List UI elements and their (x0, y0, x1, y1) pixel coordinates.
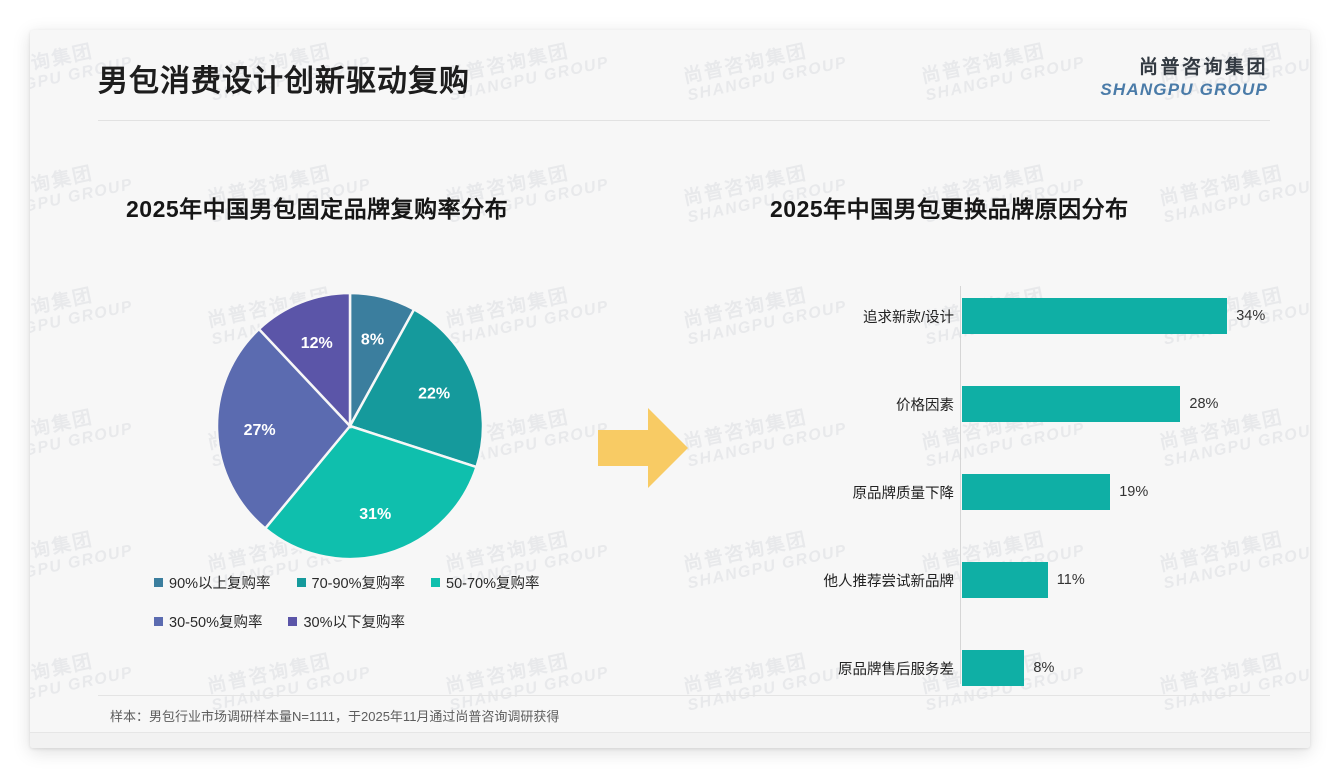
footer-website: www.shangpu-china.com (1127, 747, 1272, 748)
slide-root: 尚普咨询集团SHANGPU GROUP尚普咨询集团SHANGPU GROUP尚普… (0, 0, 1340, 780)
pie-slice-label: 27% (244, 422, 276, 439)
pie-legend-label: 50-70%复购率 (446, 572, 539, 593)
watermark-tile: 尚普咨询集团SHANGPU GROUP (30, 278, 135, 350)
brand-name-en: SHANGPU GROUP (1100, 80, 1268, 100)
bar-fill (962, 474, 1110, 510)
bar-track: 28% (962, 386, 1310, 422)
legend-swatch-icon (288, 617, 297, 626)
pie-legend-item[interactable]: 30-50%复购率 (154, 611, 262, 632)
bar-category-label: 价格因素 (770, 394, 962, 415)
bar-chart-row: 原品牌售后服务差8% (770, 650, 1310, 686)
bar-fill (962, 650, 1024, 686)
watermark-tile: 尚普咨询集团SHANGPU GROUP (30, 156, 135, 228)
footnote-text: 样本：男包行业市场调研样本量N=1111，于2025年11月通过尚普咨询调研获得 (110, 706, 559, 725)
brand-logo: 尚普咨询集团 SHANGPU GROUP (1100, 56, 1268, 100)
right-arrow-icon (592, 402, 692, 499)
legend-swatch-icon (297, 578, 306, 587)
legend-swatch-icon (154, 617, 163, 626)
bar-track: 34% (962, 298, 1310, 334)
pie-legend-label: 30%以下复购率 (303, 611, 405, 632)
footnote: 样本：男包行业市场调研样本量N=1111，于2025年11月通过尚普咨询调研获得 (98, 695, 1270, 731)
pie-chart-title: 2025年中国男包固定品牌复购率分布 (126, 190, 686, 224)
bar-track: 11% (962, 562, 1310, 598)
pie-chart: 8%22%31%27%12% (214, 290, 486, 562)
legend-swatch-icon (431, 578, 440, 587)
bar-chart-plot: 追求新款/设计34%价格因素28%原品牌质量下降19%他人推荐尝试新品牌11%原… (770, 278, 1310, 678)
slide-card: 尚普咨询集团SHANGPU GROUP尚普咨询集团SHANGPU GROUP尚普… (30, 30, 1310, 748)
legend-swatch-icon (154, 578, 163, 587)
bar-chart-row: 价格因素28% (770, 386, 1310, 422)
bar-value-label: 34% (1236, 308, 1265, 324)
pie-legend-item[interactable]: 90%以上复购率 (154, 572, 271, 593)
bar-fill (962, 562, 1048, 598)
pie-legend-item[interactable]: 50-70%复购率 (431, 572, 539, 593)
pie-legend: 90%以上复购率70-90%复购率50-70%复购率 30-50%复购率30%以… (154, 572, 654, 650)
brand-name-cn: 尚普咨询集团 (1100, 56, 1268, 80)
pie-slice-label: 12% (301, 335, 333, 352)
bar-category-label: 原品牌质量下降 (770, 482, 962, 503)
slide-header: 男包消费设计创新驱动复购 尚普咨询集团 SHANGPU GROUP (30, 30, 1310, 122)
pie-legend-item[interactable]: 30%以下复购率 (288, 611, 405, 632)
bar-chart-panel: 2025年中国男包更换品牌原因分布 追求新款/设计34%价格因素28%原品牌质量… (770, 190, 1310, 690)
bar-category-label: 原品牌售后服务差 (770, 658, 962, 679)
watermark-tile: 尚普咨询集团SHANGPU GROUP (30, 522, 135, 594)
pie-slice-label: 22% (418, 386, 450, 403)
bar-track: 19% (962, 474, 1310, 510)
bar-track: 8% (962, 650, 1310, 686)
bar-value-label: 8% (1033, 660, 1054, 676)
bar-fill (962, 386, 1180, 422)
pie-legend-item[interactable]: 70-90%复购率 (297, 572, 405, 593)
pie-legend-label: 90%以上复购率 (169, 572, 271, 593)
bar-chart-row: 追求新款/设计34% (770, 298, 1310, 334)
bar-value-label: 11% (1057, 572, 1085, 588)
pie-legend-label: 30-50%复购率 (169, 611, 262, 632)
bar-category-label: 追求新款/设计 (770, 306, 962, 327)
pie-slice-label: 31% (359, 506, 391, 523)
bar-value-label: 19% (1119, 484, 1148, 500)
pie-legend-row-2: 30-50%复购率30%以下复购率 (154, 611, 654, 632)
pie-chart-svg: 8%22%31%27%12% (214, 290, 486, 562)
bar-value-label: 28% (1189, 396, 1218, 412)
footer-copyright: ©2026.1 SHANGPU GROUP (68, 747, 237, 748)
pie-legend-label: 70-90%复购率 (312, 572, 405, 593)
bar-category-label: 他人推荐尝试新品牌 (770, 570, 962, 591)
bar-chart-title: 2025年中国男包更换品牌原因分布 (770, 190, 1310, 224)
footnote-divider (98, 695, 1270, 696)
header-divider (98, 120, 1270, 121)
pie-legend-row-1: 90%以上复购率70-90%复购率50-70%复购率 (154, 572, 654, 593)
right-arrow-svg (592, 402, 692, 494)
bar-chart-row: 原品牌质量下降19% (770, 474, 1310, 510)
watermark-tile: 尚普咨询集团SHANGPU GROUP (30, 400, 135, 472)
pie-slice-label: 8% (361, 331, 384, 348)
bar-chart-row: 他人推荐尝试新品牌11% (770, 562, 1310, 598)
page-title: 男包消费设计创新驱动复购 (98, 56, 470, 100)
bar-fill (962, 298, 1227, 334)
slide-footer: ©2026.1 SHANGPU GROUP www.shangpu-china.… (30, 732, 1310, 748)
